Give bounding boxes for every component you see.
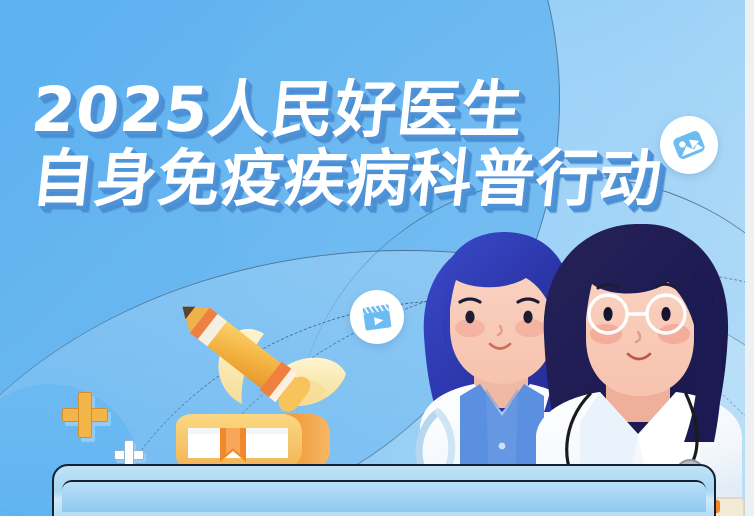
desk-edge-line	[62, 480, 706, 512]
title-line-1: 2025人民好医生	[29, 78, 666, 141]
title-line-2: 自身免疫疾病科普行动	[29, 147, 666, 210]
photo-badge[interactable]	[660, 116, 718, 174]
poster-title: 2025人民好医生 自身免疫疾病科普行动	[32, 78, 662, 210]
plus-icon	[62, 392, 108, 438]
image-icon	[672, 128, 706, 162]
video-clapperboard-icon	[361, 301, 393, 333]
poster-banner: 2025人民好医生 自身免疫疾病科普行动	[0, 0, 754, 516]
